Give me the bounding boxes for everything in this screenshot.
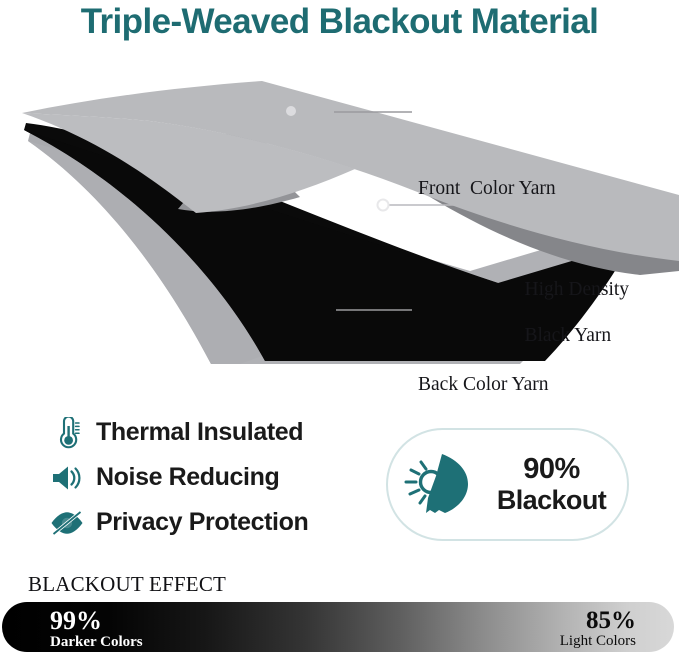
feature-item-privacy-protection: Privacy Protection bbox=[46, 500, 376, 545]
label-high-density-line1: High Density bbox=[525, 279, 630, 300]
feature-label-privacy-protection: Privacy Protection bbox=[96, 508, 308, 537]
blackout-bar-right-percent: 85% bbox=[560, 608, 636, 634]
blackout-percent: 90% bbox=[482, 454, 621, 485]
marker-dot-high-density bbox=[378, 200, 389, 211]
feature-list: Thermal Insulated Noise Reducing Privacy… bbox=[46, 410, 376, 545]
sun-behind-curtain-icon bbox=[396, 446, 482, 524]
blackout-word: Blackout bbox=[482, 486, 621, 515]
blackout-bar-left-label: Darker Colors bbox=[50, 635, 143, 650]
page-title: Triple-Weaved Blackout Material bbox=[0, 2, 679, 42]
blackout-effect-bar: 99% Darker Colors 85% Light Colors bbox=[2, 602, 674, 652]
label-high-density-line2: Black Yarn bbox=[525, 325, 612, 346]
label-high-density-black-yarn: High Density Black Yarn bbox=[505, 255, 629, 370]
fabric-layers-diagram: Front Color Yarn High Density Black Yarn… bbox=[0, 75, 679, 365]
blackout-badge: 90% Blackout bbox=[386, 428, 629, 541]
blackout-effect-title: BLACKOUT EFFECT bbox=[28, 572, 226, 597]
label-back-color-yarn: Back Color Yarn bbox=[418, 373, 549, 396]
blackout-bar-left-group: 99% Darker Colors bbox=[50, 608, 143, 650]
blackout-bar-right-label: Light Colors bbox=[560, 634, 636, 649]
feature-label-noise-reducing: Noise Reducing bbox=[96, 463, 279, 492]
thermometer-icon bbox=[46, 414, 88, 452]
feature-label-thermal-insulated: Thermal Insulated bbox=[96, 418, 303, 447]
feature-item-noise-reducing: Noise Reducing bbox=[46, 455, 376, 500]
marker-dot-front bbox=[286, 106, 296, 116]
label-front-color-yarn: Front Color Yarn bbox=[418, 177, 556, 200]
speaker-volume-icon bbox=[46, 459, 88, 497]
blackout-bar-left-percent: 99% bbox=[50, 608, 143, 635]
blackout-bar-right-group: 85% Light Colors bbox=[560, 608, 636, 649]
eye-slash-icon bbox=[46, 504, 88, 542]
feature-item-thermal-insulated: Thermal Insulated bbox=[46, 410, 376, 455]
blackout-badge-text: 90% Blackout bbox=[482, 454, 627, 514]
